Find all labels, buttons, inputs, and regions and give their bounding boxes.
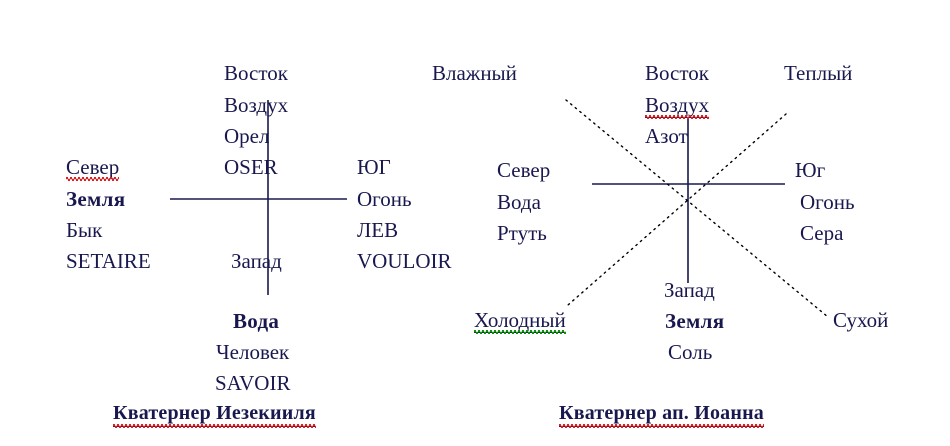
ezekiel-right-symbol: ЛЕВ: [357, 220, 398, 241]
ezekiel-top-direction: Восток: [224, 63, 288, 84]
john-diagram-title: Кватернер ап. Иоанна: [559, 402, 764, 427]
ezekiel-bottom-element: Вода: [233, 311, 279, 332]
ezekiel-bottom-direction: Запад: [231, 251, 282, 272]
john-top-principle: Азот: [645, 126, 688, 147]
john-corner-top-left: Влажный: [432, 63, 517, 84]
ezekiel-left-verb: SETAIRE: [66, 251, 151, 272]
john-right-principle: Сера: [800, 223, 843, 244]
john-right-direction: Юг: [795, 160, 825, 181]
ezekiel-top-symbol: Орел: [224, 126, 269, 147]
ezekiel-bottom-symbol: Человек: [216, 342, 289, 363]
ezekiel-right-verb: VOULOIR: [357, 251, 452, 272]
john-right-element: Огонь: [800, 192, 855, 213]
john-bottom-principle: Соль: [668, 342, 712, 363]
john-left-principle: Ртуть: [497, 223, 547, 244]
john-bottom-direction: Запад: [664, 280, 715, 301]
john-corner-top-right: Теплый: [784, 63, 852, 84]
john-top-element-text: Воздух: [645, 95, 709, 118]
ezekiel-right-direction: ЮГ: [357, 157, 391, 178]
john-top-direction: Восток: [645, 63, 709, 84]
john-corner-bottom-right: Сухой: [833, 310, 888, 331]
ezekiel-left-element: Земля: [66, 189, 125, 210]
ezekiel-bottom-verb: SAVOIR: [215, 373, 290, 394]
john-top-element: Воздух: [645, 95, 709, 118]
diagram-canvas: Восток Воздух Орел OSER Север Земля Бык …: [0, 0, 950, 446]
john-corner-bottom-left: Холодный: [474, 310, 566, 333]
ezekiel-top-element: Воздух: [224, 95, 288, 116]
john-left-element: Вода: [497, 192, 541, 213]
ezekiel-right-element: Огонь: [357, 189, 412, 210]
ezekiel-left-direction: Север: [66, 157, 119, 179]
ezekiel-left-direction-text: Север: [66, 157, 119, 179]
john-left-direction: Север: [497, 160, 550, 181]
ezekiel-top-verb: OSER: [224, 157, 278, 178]
ezekiel-diagram-title: Кватернер Иезекииля: [113, 402, 316, 427]
john-bottom-element: Земля: [665, 311, 724, 332]
john-corner-bottom-left-text: Холодный: [474, 310, 566, 333]
ezekiel-title-text: Кватернер Иезекииля: [113, 402, 316, 427]
ezekiel-left-symbol: Бык: [66, 220, 102, 241]
john-title-text: Кватернер ап. Иоанна: [559, 402, 764, 427]
